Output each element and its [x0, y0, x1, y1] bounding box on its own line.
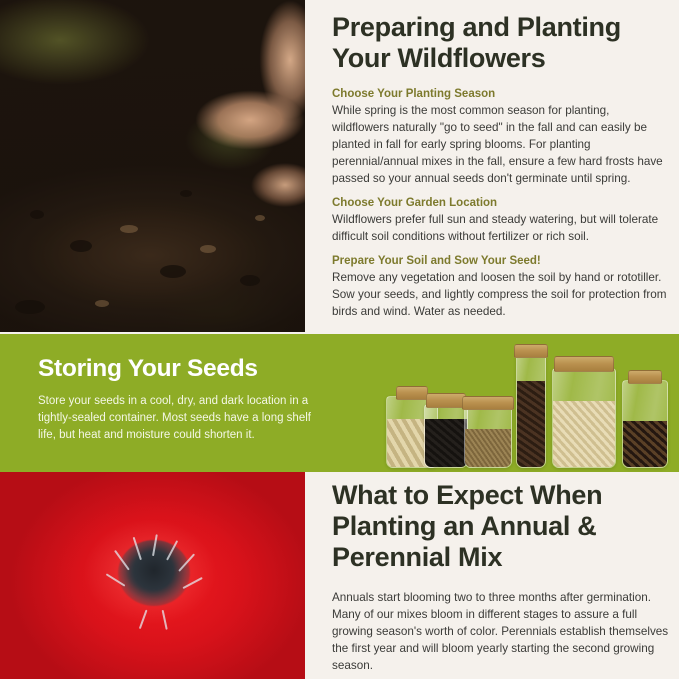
subheading-prepare-soil: Prepare Your Soil and Sow Your Seed!: [332, 254, 668, 269]
soil-clod: [15, 300, 45, 314]
soil-clod: [180, 190, 192, 197]
soil-clod: [30, 210, 44, 219]
cork-lid: [462, 396, 514, 410]
preparing-text-column: Preparing and Planting Your Wildflowers …: [332, 12, 668, 320]
soil-clod: [70, 240, 92, 252]
what-to-expect-heading: What to Expect When Planting an Annual &…: [332, 480, 672, 573]
jar-mixed-dark-seeds: [622, 380, 668, 468]
soil-clod: [200, 245, 216, 253]
storing-text-column: Storing Your Seeds Store your seeds in a…: [38, 355, 328, 444]
soil-clod: [240, 275, 260, 286]
what-to-expect-body: Annuals start blooming two to three mont…: [332, 589, 672, 674]
hands-sowing-seeds-in-soil-photo: [0, 0, 305, 332]
infographic-page: Preparing and Planting Your Wildflowers …: [0, 0, 679, 679]
cork-lid: [514, 344, 548, 358]
cork-lid: [396, 386, 428, 400]
subheading-garden-location: Choose Your Garden Location: [332, 196, 668, 211]
soil-clod: [255, 215, 265, 221]
soil-clod: [160, 265, 186, 278]
soil-clod: [95, 300, 109, 307]
jar-pumpkin-seeds: [552, 368, 616, 468]
cork-lid: [426, 393, 466, 408]
storing-heading: Storing Your Seeds: [38, 355, 328, 383]
jar-black-seeds: [424, 404, 468, 468]
subheading-planting-season: Choose Your Planting Season: [332, 87, 668, 102]
jar-tall-dark-seeds: [516, 354, 546, 468]
red-poppy-flower-photo: [0, 472, 305, 679]
what-to-expect-text-column: What to Expect When Planting an Annual &…: [332, 480, 672, 674]
body-prepare-soil: Remove any vegetation and loosen the soi…: [332, 269, 668, 320]
section-what-to-expect: What to Expect When Planting an Annual &…: [0, 472, 679, 679]
section-preparing-and-planting: Preparing and Planting Your Wildflowers …: [0, 0, 679, 334]
cork-lid: [554, 356, 614, 372]
seed-storage-jars-photo: [386, 342, 671, 468]
jar-brown-grain: [464, 406, 512, 468]
section-storing-your-seeds: Storing Your Seeds Store your seeds in a…: [0, 334, 679, 472]
body-planting-season: While spring is the most common season f…: [332, 102, 668, 187]
page-title: Preparing and Planting Your Wildflowers: [332, 12, 668, 74]
body-garden-location: Wildflowers prefer full sun and steady w…: [332, 211, 668, 245]
storing-body: Store your seeds in a cool, dry, and dar…: [38, 393, 328, 444]
cork-lid: [628, 370, 662, 384]
soil-clod: [120, 225, 138, 233]
